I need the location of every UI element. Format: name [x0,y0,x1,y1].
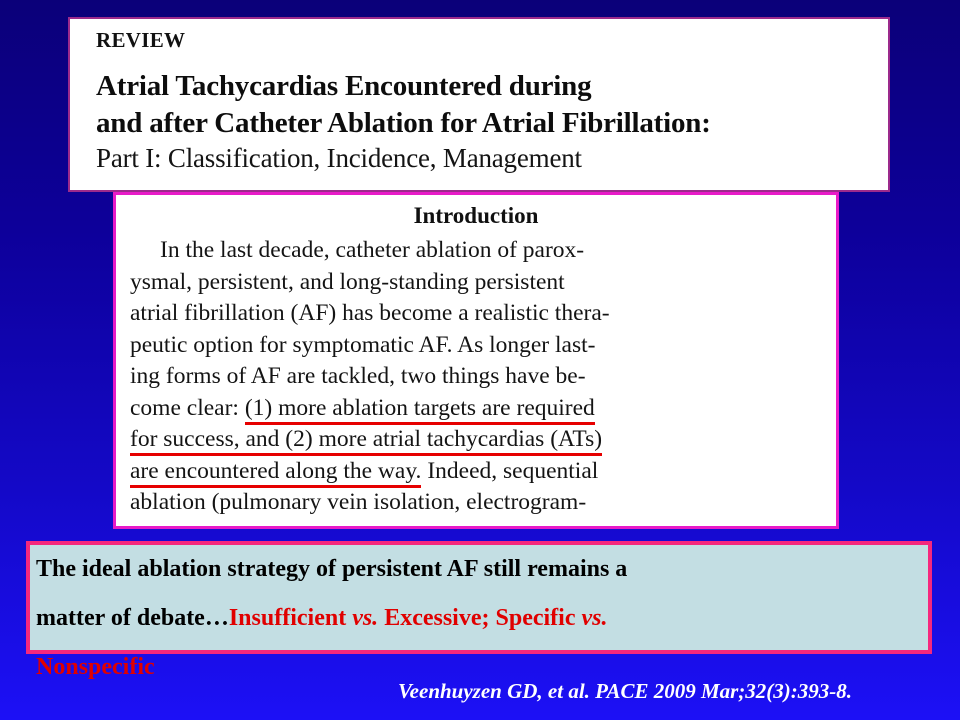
review-kicker-label: REVIEW [96,29,888,52]
article-title: Atrial Tachycardias Encountered during a… [96,68,888,142]
commentary-line-2-black: matter of debate… [36,605,229,631]
commentary-text: The ideal ablation strategy of persisten… [36,545,936,692]
intro-line: atrial fibrillation (AF) has become a re… [130,298,822,330]
introduction-body: In the last decade, catheter ablation of… [130,235,822,519]
commentary-line-1: The ideal ablation strategy of persisten… [36,545,936,594]
commentary-line-2: matter of debate…Insufficient vs. Excess… [36,594,936,643]
intro-line: ablation (pulmonary vein isolation, elec… [130,487,822,519]
slide-canvas: REVIEW Atrial Tachycardias Encountered d… [0,0,960,720]
commentary-accent-vs-1: vs. [352,605,378,631]
intro-line: ysmal, persistent, and long-standing per… [130,267,822,299]
article-subtitle: Part I: Classification, Incidence, Manag… [96,142,888,176]
article-title-line-2: and after Catheter Ablation for Atrial F… [96,105,888,142]
intro-line: for success, and (2) more atrial tachyca… [130,424,822,456]
commentary-accent-excessive-specific: Excessive; Specific [378,605,581,631]
intro-line: peutic option for symptomatic AF. As lon… [130,330,822,362]
intro-line: In the last decade, catheter ablation of… [130,235,822,267]
commentary-accent-insufficient: Insufficient [229,605,352,631]
article-title-line-1: Atrial Tachycardias Encountered during [96,68,888,105]
intro-line-underlined: are encountered along the way. [130,458,421,488]
citation-reference: Veenhuyzen GD, et al. PACE 2009 Mar;32(3… [398,679,852,704]
intro-line: are encountered along the way. Indeed, s… [130,456,822,488]
intro-line-underlined: for success, and (2) more atrial tachyca… [130,426,602,456]
commentary-accent-vs-2: vs. [581,605,607,631]
introduction-card: Introduction In the last decade, cathete… [113,192,839,529]
introduction-heading: Introduction [130,203,822,229]
intro-line-underlined: (1) more ablation targets are required [245,395,595,425]
intro-line: ing forms of AF are tackled, two things … [130,361,822,393]
title-card: REVIEW Atrial Tachycardias Encountered d… [68,17,890,192]
intro-line: come clear: (1) more ablation targets ar… [130,393,822,425]
intro-line-plain: Indeed, sequential [421,458,598,484]
intro-line-plain: come clear: [130,395,245,421]
